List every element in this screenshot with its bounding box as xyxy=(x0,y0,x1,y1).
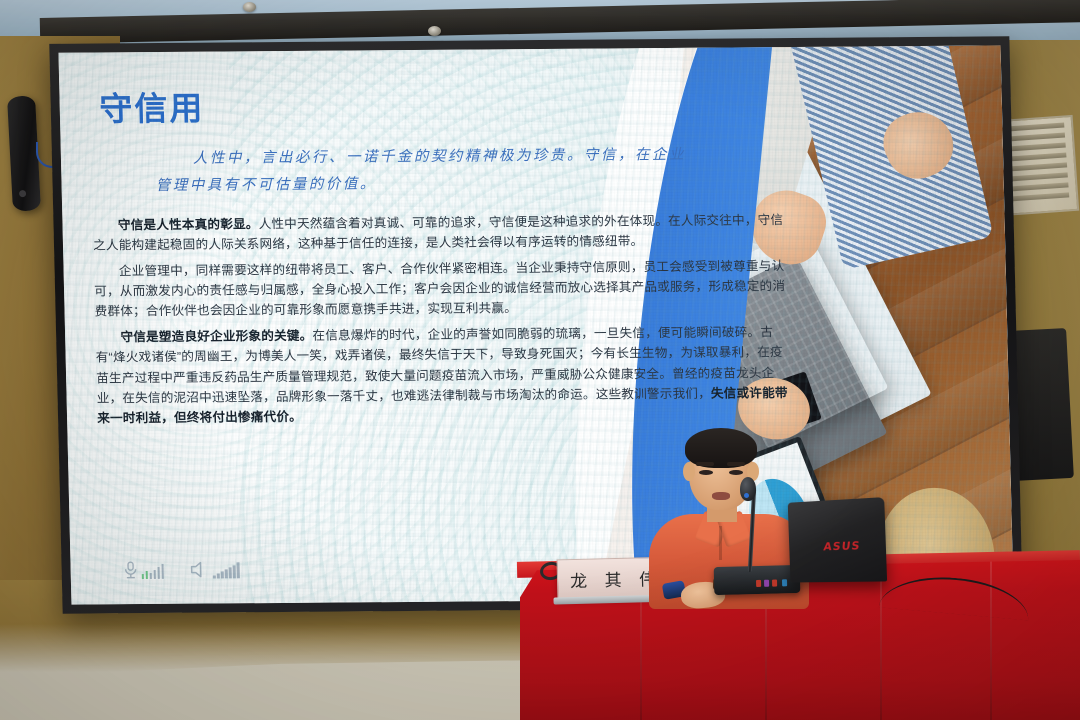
presenter-brow-left xyxy=(696,462,714,466)
slide-intro-text: 人性中，言出必行、一诺千金的契约精神极为珍贵。守信，在企业管理中具有不可估量的价… xyxy=(155,142,703,200)
asus-logo: ASUS xyxy=(823,539,861,553)
ceiling-spotlight xyxy=(428,26,441,36)
microphone-level-icon xyxy=(122,561,164,579)
presenter-ear-left xyxy=(683,462,695,481)
ceiling-spotlight xyxy=(243,2,256,12)
presenter-mouth xyxy=(712,492,730,500)
slide-paragraph-1-lead: 守信是人性本真的彰显。 xyxy=(118,217,259,232)
speaker-level-icon xyxy=(190,560,240,578)
slide-body: 守信是人性本真的彰显。人性中天然蕴含着对真诚、可靠的追求，守信便是这种追求的外在… xyxy=(92,210,794,434)
presenter-placket xyxy=(719,526,722,560)
microphone-icon xyxy=(740,477,756,501)
slide-paragraph-3-lead: 守信是塑造良好企业形象的关键。 xyxy=(120,329,312,345)
slide-footer-icons xyxy=(122,560,239,579)
microphone-base[interactable] xyxy=(714,565,801,595)
slide-title: 守信用 xyxy=(99,82,205,131)
slide-paragraph-3: 守信是塑造良好企业形象的关键。在信息爆炸的时代，企业的声誉如同脆弱的琉璃，一旦失… xyxy=(95,322,795,429)
presenter xyxy=(655,432,805,582)
presenter-eye-right xyxy=(729,470,743,475)
presenter-eye-left xyxy=(699,470,713,475)
slide-paragraph-2: 企业管理中，同样需要这样的纽带将员工、客户、合作伙伴紧密相连。当企业秉持守信原则… xyxy=(94,256,793,323)
microphone-level-bars xyxy=(141,563,164,579)
presenter-laptop[interactable]: ASUS xyxy=(788,497,887,582)
screenshot-root: 守信用 人性中，言出必行、一诺千金的契约精神极为珍贵。守信，在企业管理中具有不可… xyxy=(0,0,1080,720)
slide-paragraph-1: 守信是人性本真的彰显。人性中天然蕴含着对真诚、可靠的追求，守信便是这种追求的外在… xyxy=(92,210,790,256)
presenter-brow-right xyxy=(727,462,745,466)
slide-paragraph-2-text: 企业管理中，同样需要这样的纽带将员工、客户、合作伙伴紧密相连。当企业秉持守信原则… xyxy=(94,259,785,319)
speaker-level-bars xyxy=(213,562,240,578)
